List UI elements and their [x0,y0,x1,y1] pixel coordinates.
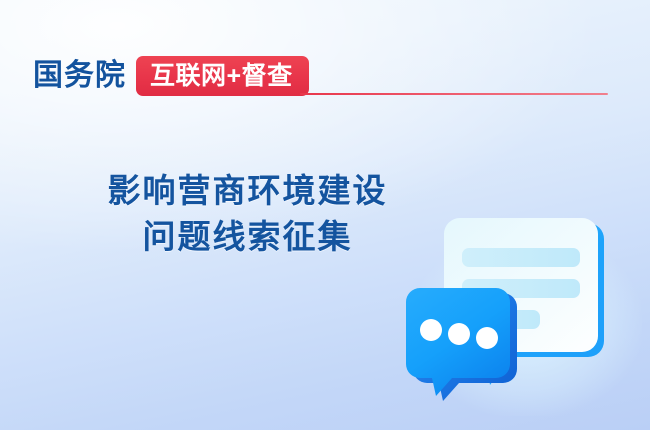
headline-line-2: 问题线索征集 [60,214,435,260]
header-divider-rule [300,93,608,95]
header-lockup: 国务院 互联网+督查 [33,52,309,100]
chat-bubble-dot-3 [476,327,498,349]
program-badge: 互联网+督查 [136,56,309,96]
headline-line-1: 影响营商环境建设 [60,168,435,214]
speech-bubbles-illustration [392,196,642,416]
message-card-text-line-1 [462,248,580,267]
chat-bubble-dot-2 [448,323,470,345]
program-badge-label: 互联网+督查 [150,64,293,89]
agency-name: 国务院 [33,61,126,91]
headline-block: 影响营商环境建设 问题线索征集 [60,168,435,260]
chat-bubble-dot-1 [420,319,442,341]
banner-root: 国务院 互联网+督查 影响营商环境建设 问题线索征集 [0,0,650,430]
